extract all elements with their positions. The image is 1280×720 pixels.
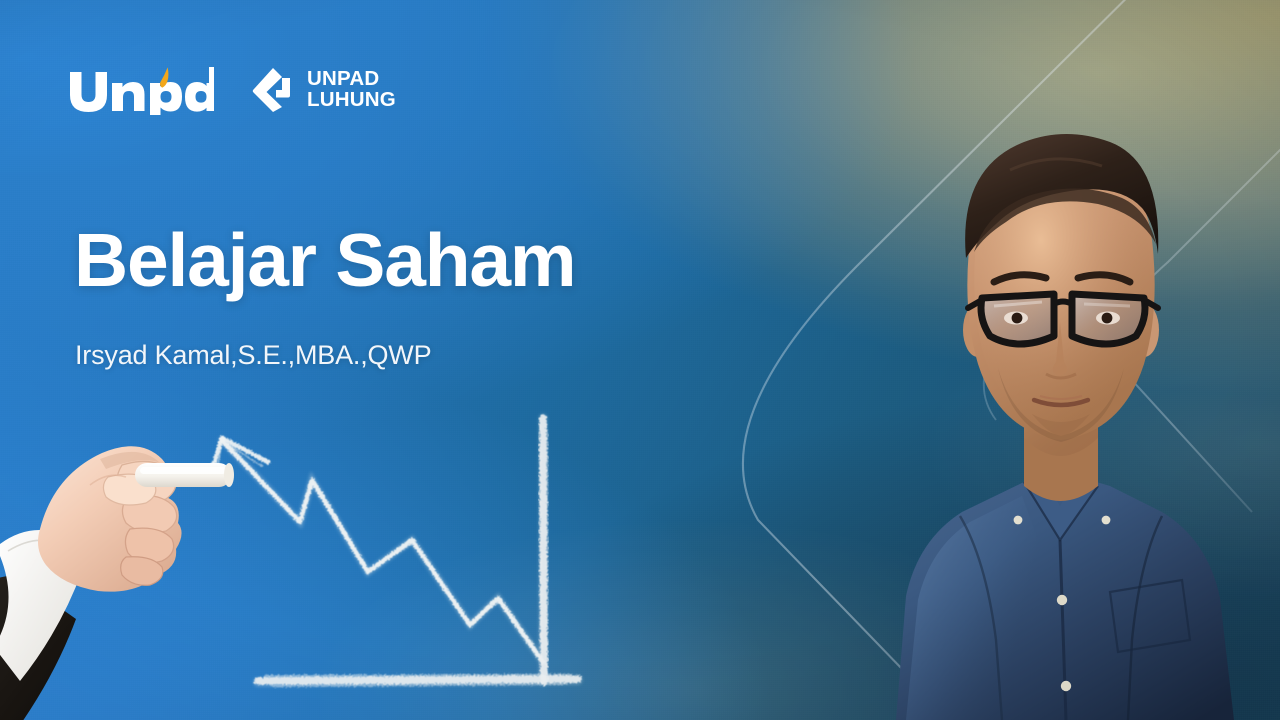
slide-title: Belajar Saham <box>74 222 575 299</box>
brand-logo-row[interactable]: UNPAD LUHUNG <box>68 63 396 115</box>
presenter-name: Irsyad Kamal,S.E.,MBA.,QWP <box>75 340 431 371</box>
unpad-luhung-text: UNPAD LUHUNG <box>307 68 396 110</box>
chalk-stick <box>135 463 234 487</box>
unpad-luhung-lockup[interactable]: UNPAD LUHUNG <box>252 66 396 112</box>
lockup-line-2: LUHUNG <box>307 89 396 110</box>
hand-holding-chalk <box>0 425 240 720</box>
slide-canvas: UNPAD LUHUNG Belajar Saham Irsyad Kamal,… <box>0 0 1280 720</box>
chevron-mark-icon <box>252 66 296 112</box>
presenter-photo <box>810 0 1280 720</box>
lockup-line-1: UNPAD <box>307 68 396 89</box>
unpad-wordmark[interactable] <box>68 63 214 115</box>
